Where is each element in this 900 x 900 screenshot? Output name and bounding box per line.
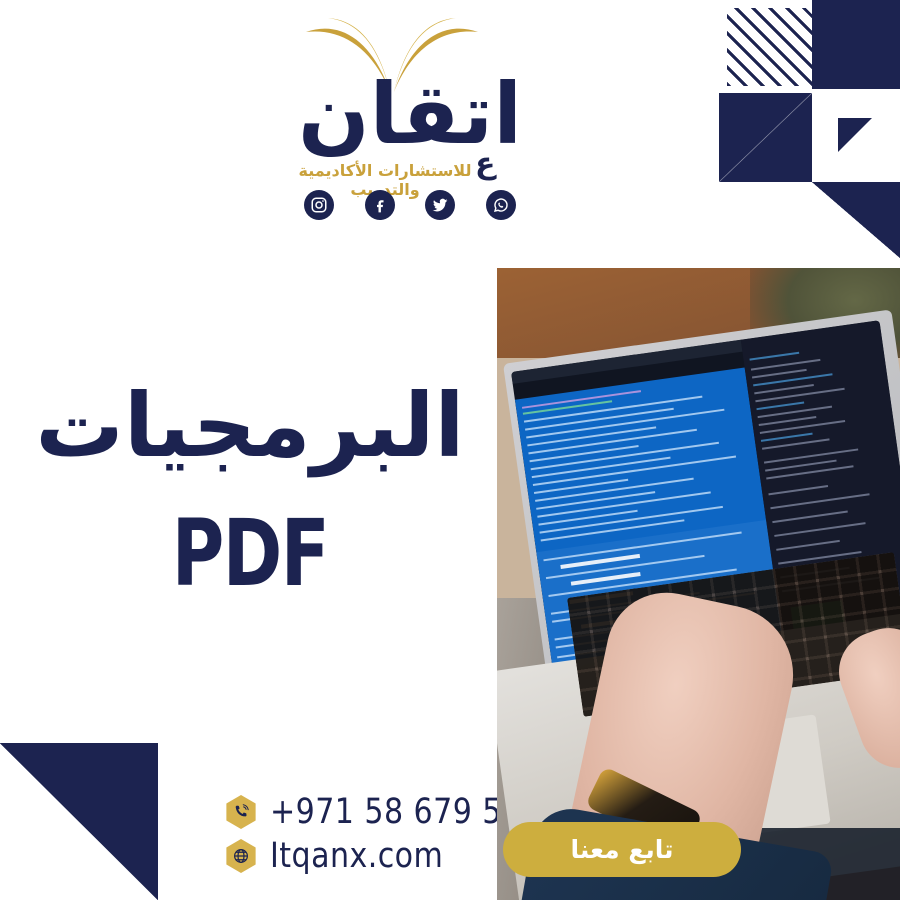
social-links	[304, 190, 516, 220]
instagram-icon[interactable]	[304, 190, 334, 220]
diagonal-stripes-decoration	[727, 8, 812, 86]
navy-square-with-diagonal	[719, 93, 812, 182]
navy-triangle-right	[812, 182, 900, 258]
logo-wordmark: اتقان	[270, 68, 550, 160]
facebook-icon[interactable]	[365, 190, 395, 220]
website-url: Itqanx.com	[270, 836, 443, 876]
whatsapp-icon[interactable]	[486, 190, 516, 220]
navy-triangle-bottom-left	[0, 743, 158, 900]
poster-canvas: اتقان ع للاستشارات الأكاديمية والتدريب	[0, 0, 900, 900]
phone-icon	[222, 792, 260, 832]
follow-us-button[interactable]: تابع معنا	[503, 822, 741, 877]
navy-triangle-small	[838, 118, 872, 152]
globe-icon	[222, 836, 260, 876]
page-title: البرمجيات	[20, 382, 480, 470]
navy-square-top-right	[812, 0, 900, 89]
brand-logo: اتقان ع للاستشارات الأكاديمية والتدريب	[270, 6, 550, 236]
twitter-icon[interactable]	[425, 190, 455, 220]
page-subtitle: PDF	[71, 508, 430, 600]
laptop-photo	[497, 268, 900, 900]
